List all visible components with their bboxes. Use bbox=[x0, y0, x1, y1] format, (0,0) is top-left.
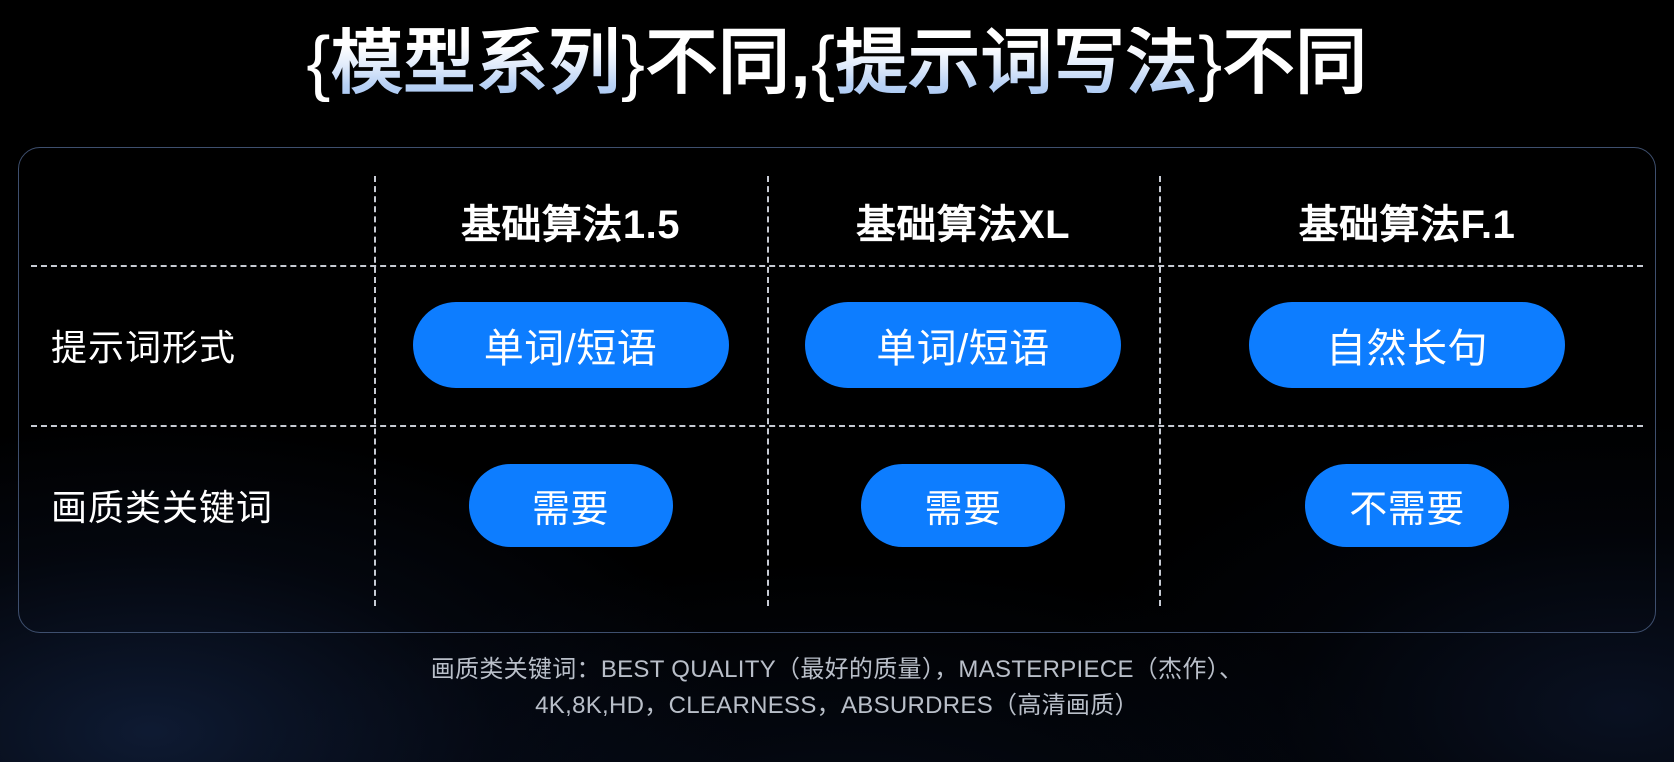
title-highlight-1: 模型系列 bbox=[331, 27, 621, 99]
title-container: {模型系列}不同,{提示词写法}不同 bbox=[0, 0, 1674, 125]
row-label-cell-1: 提示词形式 bbox=[19, 265, 374, 425]
data-cell-r1c1: 单词/短语 bbox=[374, 265, 767, 425]
value-pill-r1c3: 自然长句 bbox=[1249, 302, 1565, 388]
footnote-line-1: 画质类关键词：BEST QUALITY（最好的质量），MASTERPIECE（杰… bbox=[0, 652, 1674, 688]
title-open-brace-2: { bbox=[811, 27, 836, 99]
column-header-label-1: 基础算法1.5 bbox=[461, 192, 680, 250]
table-row: 提示词形式 单词/短语 单词/短语 自然长句 bbox=[19, 265, 1655, 425]
data-cell-r2c3: 不需要 bbox=[1159, 425, 1655, 585]
comparison-card: 基础算法1.5 基础算法XL 基础算法F.1 提示词形式 单词/短语 单词/ bbox=[18, 147, 1656, 633]
data-cell-r1c3: 自然长句 bbox=[1159, 265, 1655, 425]
title-close-brace-2: } bbox=[1198, 27, 1223, 99]
column-header-label-2: 基础算法XL bbox=[856, 192, 1070, 250]
slide-root: {模型系列}不同,{提示词写法}不同 基础算法1.5 基础算法XL 基础算法F.… bbox=[0, 0, 1674, 762]
title-comma: , bbox=[790, 27, 811, 99]
title-close-brace-1: } bbox=[621, 27, 646, 99]
page-title: {模型系列}不同,{提示词写法}不同 bbox=[306, 27, 1367, 99]
table-row: 画质类关键词 需要 需要 不需要 bbox=[19, 425, 1655, 585]
data-cell-r2c2: 需要 bbox=[767, 425, 1159, 585]
row-label-cell-2: 画质类关键词 bbox=[19, 425, 374, 585]
footnote: 画质类关键词：BEST QUALITY（最好的质量），MASTERPIECE（杰… bbox=[0, 652, 1674, 724]
data-cell-r1c2: 单词/短语 bbox=[767, 265, 1159, 425]
title-open-brace-1: { bbox=[306, 27, 331, 99]
column-header-cell-3: 基础算法F.1 bbox=[1159, 176, 1655, 265]
value-pill-r2c3: 不需要 bbox=[1305, 464, 1509, 547]
column-header-label-3: 基础算法F.1 bbox=[1299, 192, 1516, 250]
column-header-cell-1: 基础算法1.5 bbox=[374, 176, 767, 265]
row-label-2: 画质类关键词 bbox=[51, 479, 273, 531]
title-plain-2: 不同 bbox=[1223, 27, 1368, 99]
footnote-line-2: 4K,8K,HD，CLEARNESS，ABSURDRES（高清画质） bbox=[0, 688, 1674, 724]
header-corner-cell bbox=[19, 176, 374, 265]
title-highlight-2: 提示词写法 bbox=[836, 27, 1199, 99]
column-header-cell-2: 基础算法XL bbox=[767, 176, 1159, 265]
value-pill-r2c1: 需要 bbox=[469, 464, 673, 547]
value-pill-r1c2: 单词/短语 bbox=[805, 302, 1121, 388]
title-plain-1: 不同 bbox=[645, 27, 790, 99]
value-pill-r2c2: 需要 bbox=[861, 464, 1065, 547]
row-label-1: 提示词形式 bbox=[51, 319, 236, 371]
value-pill-r1c1: 单词/短语 bbox=[413, 302, 729, 388]
comparison-table: 基础算法1.5 基础算法XL 基础算法F.1 提示词形式 单词/短语 单词/ bbox=[19, 148, 1655, 632]
data-cell-r2c1: 需要 bbox=[374, 425, 767, 585]
table-header-row: 基础算法1.5 基础算法XL 基础算法F.1 bbox=[19, 176, 1655, 265]
